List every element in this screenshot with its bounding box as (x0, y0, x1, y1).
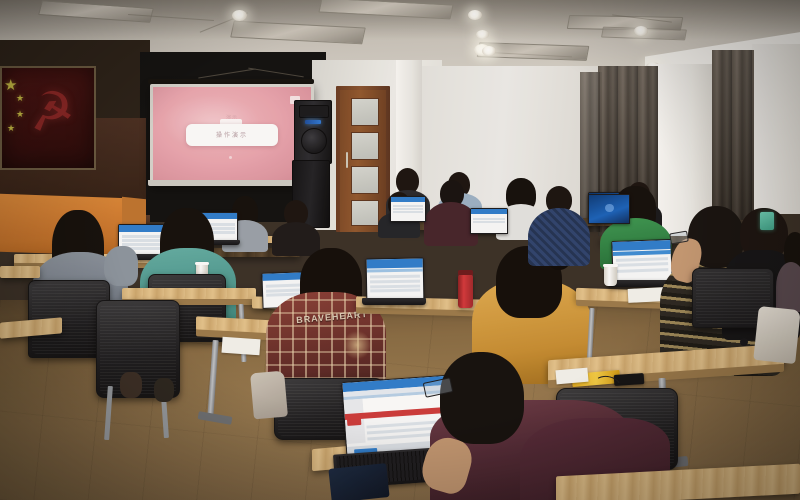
door-glass-pane (351, 166, 379, 194)
ceiling-downlight-icon (468, 10, 482, 20)
slide-box-text: 操作演示 (216, 130, 248, 139)
thermos-cap (458, 270, 473, 275)
laptop-screen (367, 259, 424, 300)
door-handle-icon[interactable] (346, 152, 348, 168)
room-door[interactable] (340, 90, 386, 232)
paper-cup[interactable] (604, 264, 617, 286)
ceiling-downlight-icon (482, 46, 496, 56)
screen-titlebar (471, 209, 507, 214)
tablet-device[interactable] (328, 463, 389, 500)
cup-lid (603, 264, 618, 267)
red-thermos[interactable] (458, 274, 473, 308)
tote-bag[interactable] (753, 306, 800, 364)
paper-stack[interactable] (628, 287, 665, 303)
ceiling-downlight-icon (232, 10, 247, 21)
chair-castor (740, 338, 748, 346)
paper-stack[interactable] (221, 337, 260, 356)
laptop-screen (612, 240, 671, 282)
door-glass-pane (351, 200, 379, 226)
screen-titlebar (367, 259, 423, 269)
held-smartphone[interactable] (760, 212, 774, 230)
projector-screen[interactable]: 演示 操作演示 (150, 84, 314, 186)
slide-content-box: 操作演示 (186, 124, 278, 145)
desk-far-left (0, 266, 40, 278)
paper-stack[interactable] (555, 368, 588, 385)
speaker-woofer-icon (301, 128, 327, 154)
speaker-tweeter-icon (299, 105, 329, 118)
screen-titlebar (391, 197, 425, 202)
wall-pillar-far-right (752, 44, 800, 214)
door-glass-pane (351, 132, 379, 160)
party-flag: ☭ ★ ★ ★ ★ (0, 66, 96, 170)
cup-lid (195, 262, 209, 265)
projected-slide: 演示 操作演示 (153, 87, 311, 183)
window-curtain (712, 50, 754, 220)
laptop-screen (391, 197, 425, 221)
flag-star-icon: ★ (16, 110, 24, 119)
slide-cursor-dot (229, 156, 232, 159)
flag-star-icon: ★ (16, 94, 24, 103)
ceiling-downlight-icon (476, 30, 489, 39)
tote-bag[interactable] (250, 371, 288, 420)
laptop-screen (589, 195, 629, 223)
door-glass-pane (351, 98, 379, 126)
laptop-screen (471, 209, 507, 233)
ceiling-downlight-icon (634, 26, 648, 36)
classroom-photo: ☭ ★ ★ ★ ★ Communist Party of China flag … (0, 0, 800, 500)
screen-red-button (347, 416, 361, 426)
projector-screen-weight-bar (148, 180, 310, 186)
flag-star-icon: ★ (7, 124, 15, 133)
flag-star-icon: ★ (4, 78, 17, 93)
hammer-sickle-icon: ☭ (25, 83, 78, 141)
speaker-logo (305, 120, 321, 124)
pa-speaker-top (294, 100, 332, 164)
screen-titlebar (119, 225, 163, 232)
